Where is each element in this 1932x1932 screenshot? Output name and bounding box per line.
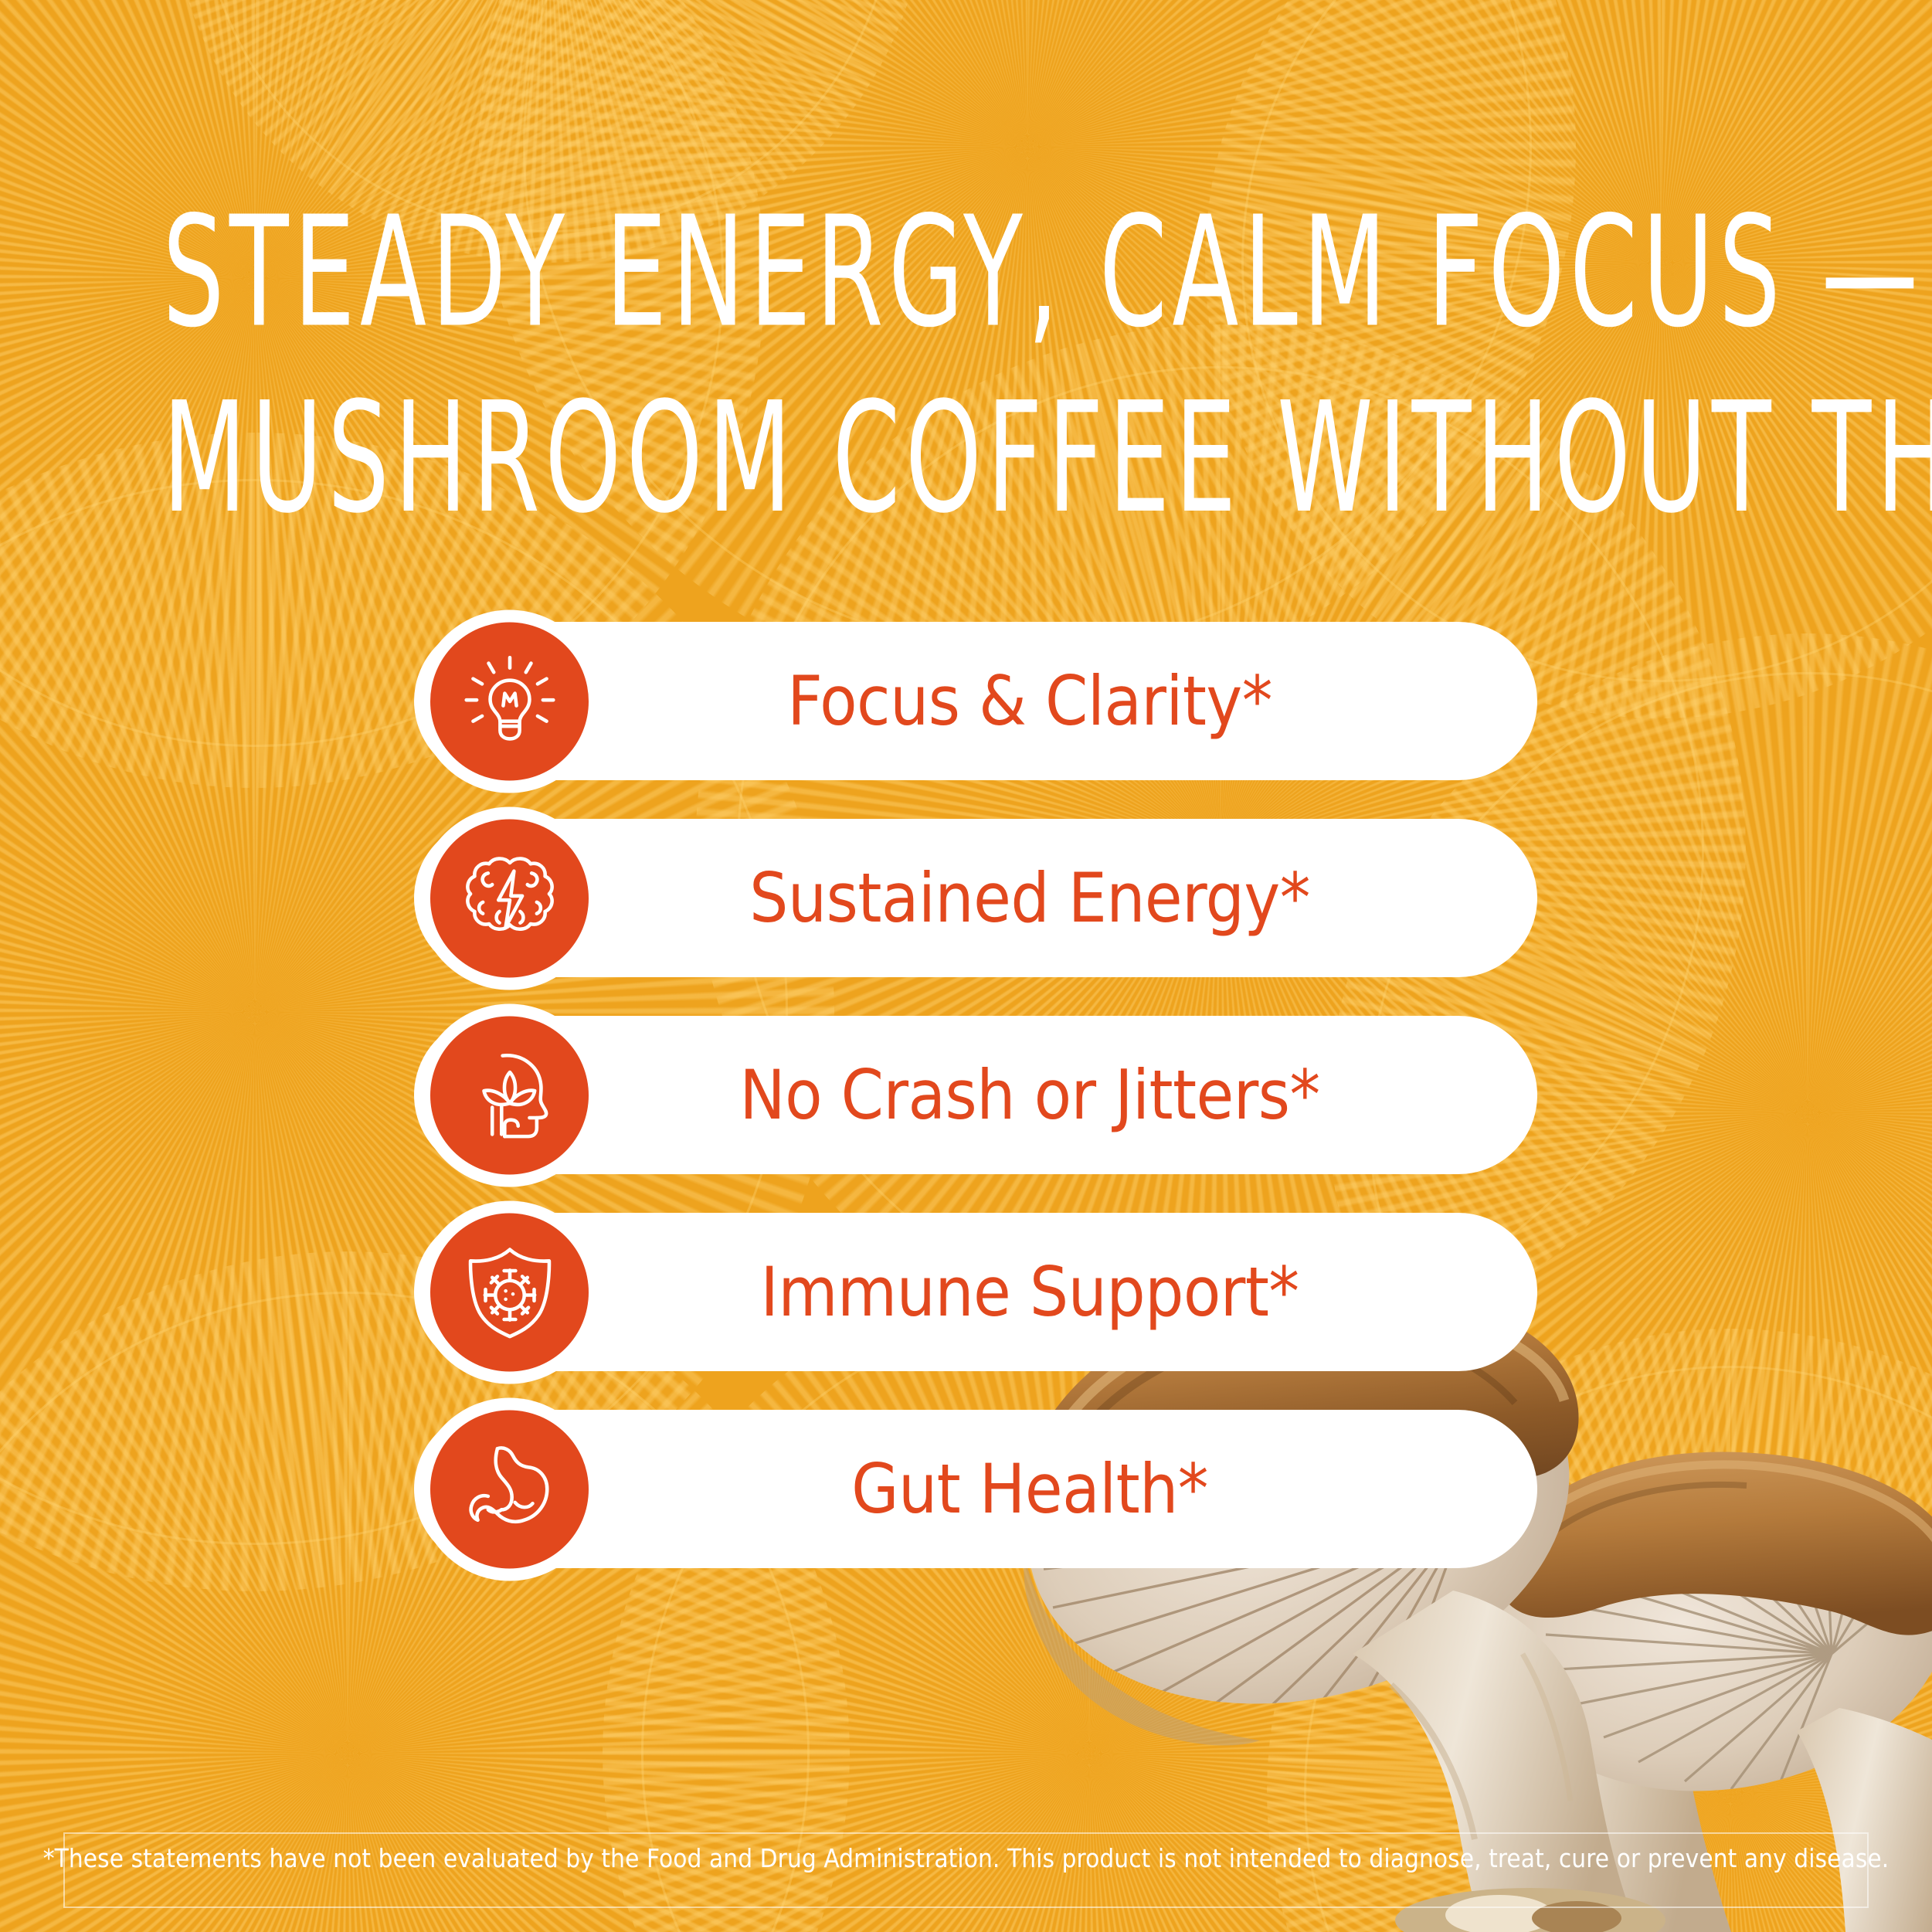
page-title-line-2: Mushroom Coffee Without the Crash: [162, 365, 1769, 552]
benefit-row-sustained-energy[interactable]: Sustained Energy*: [414, 819, 1537, 977]
benefit-row-no-crash-or-jitters[interactable]: No Crash or Jitters*: [414, 1016, 1537, 1174]
stomach-icon: [430, 1410, 589, 1568]
infographic-poster: Steady Energy, Calm Focus — Mushroom Cof…: [0, 0, 1932, 1932]
benefit-row-gut-health[interactable]: Gut Health*: [414, 1410, 1537, 1568]
fda-disclaimer-text: *These statements have not been evaluate…: [43, 1843, 1890, 1873]
brain-bolt-icon: [430, 819, 589, 977]
head-lotus-icon: [430, 1016, 589, 1174]
fda-disclaimer-box: *These statements have not been evaluate…: [63, 1832, 1869, 1908]
lightbulb-icon: [430, 622, 589, 780]
shield-virus-icon: [430, 1213, 589, 1371]
page-title: Steady Energy, Calm Focus — Mushroom Cof…: [162, 179, 1769, 552]
benefit-row-immune-support[interactable]: Immune Support*: [414, 1213, 1537, 1371]
benefits-list: Focus & Clarity* Sustained Energy*: [414, 622, 1537, 1568]
page-title-line-1: Steady Energy, Calm Focus —: [162, 179, 1769, 365]
benefit-row-focus-clarity[interactable]: Focus & Clarity*: [414, 622, 1537, 780]
